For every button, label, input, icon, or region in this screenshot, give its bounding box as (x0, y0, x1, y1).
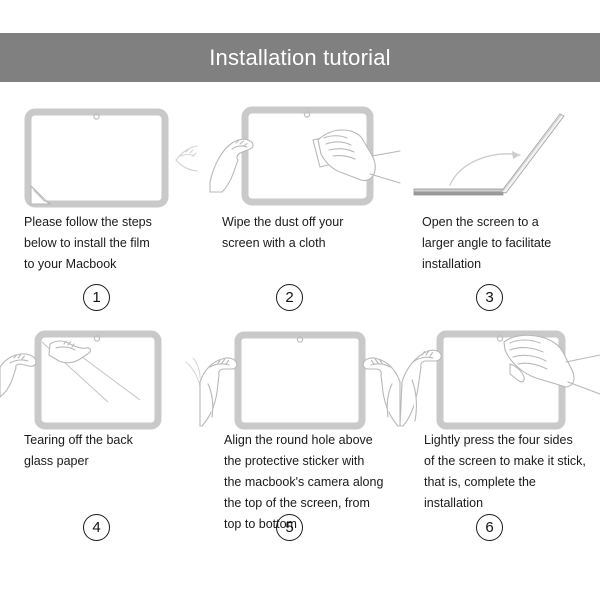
tutorial-page: Installation tutorial (0, 0, 600, 600)
step-card-1: Please follow the steps below to install… (0, 100, 200, 322)
step-card-3: Open the screen to a larger angle to fac… (400, 100, 600, 322)
step-caption: Lightly press the four sides of the scre… (424, 430, 592, 514)
step-caption: Please follow the steps below to install… (24, 212, 192, 275)
step-caption: Wipe the dust off your screen with a clo… (222, 212, 392, 254)
illustration-tablet-with-peeling-film (0, 100, 200, 205)
page-title: Installation tutorial (209, 47, 391, 69)
step-number-badge: 4 (83, 514, 110, 541)
header-bar: Installation tutorial (0, 33, 600, 82)
step-number: 6 (485, 519, 493, 536)
step-number: 2 (285, 289, 293, 306)
step-number-badge: 3 (476, 284, 503, 311)
step-caption: Open the screen to a larger angle to fac… (422, 212, 592, 275)
step-number-badge: 1 (83, 284, 110, 311)
step-caption: Tearing off the back glass paper (24, 430, 192, 472)
step-card-5: Align the round hole above the protectiv… (200, 322, 400, 550)
step-number-badge: 2 (276, 284, 303, 311)
step-caption: Align the round hole above the protectiv… (224, 430, 392, 535)
illustration-laptop-side-view-opening (400, 100, 600, 205)
illustration-tablet-wiped-with-cloth (200, 100, 400, 205)
step-number-badge: 5 (276, 514, 303, 541)
step-number-badge: 6 (476, 514, 503, 541)
step-number: 4 (92, 519, 100, 536)
illustration-tablet-held-by-two-hands (200, 322, 400, 427)
step-card-4: Tearing off the back glass paper 4 (0, 322, 200, 550)
illustration-tablet-tearing-back-paper (0, 322, 200, 427)
step-number: 1 (92, 289, 100, 306)
step-number: 5 (285, 519, 293, 536)
illustration-tablet-pressed-with-hand (400, 322, 600, 427)
steps-grid: Please follow the steps below to install… (0, 100, 600, 590)
step-card-6: Lightly press the four sides of the scre… (400, 322, 600, 550)
step-card-2: Wipe the dust off your screen with a clo… (200, 100, 400, 322)
step-number: 3 (485, 289, 493, 306)
